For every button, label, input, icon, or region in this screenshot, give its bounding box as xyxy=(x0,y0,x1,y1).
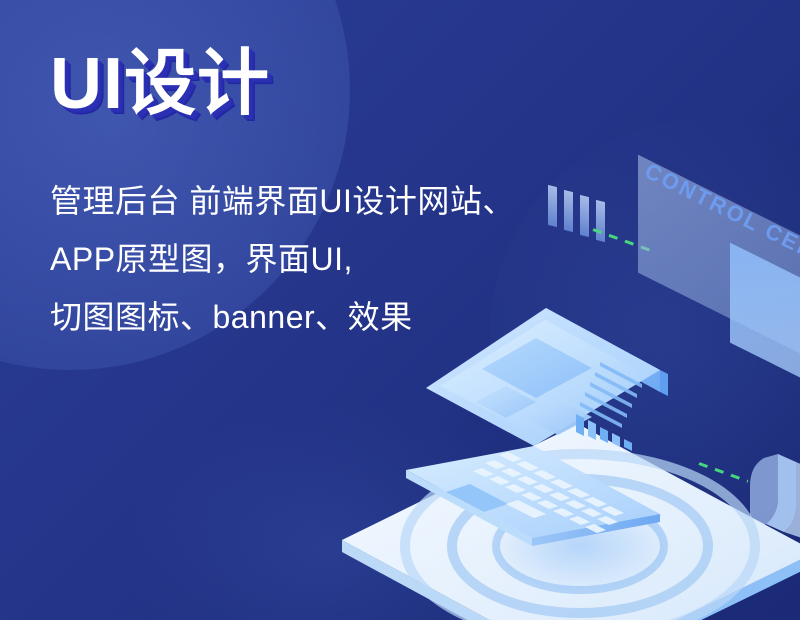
subtitle-line-2: APP原型图，界面UI, xyxy=(50,230,630,288)
page-title: UI设计 xyxy=(50,40,270,128)
decorative-bar xyxy=(596,200,605,242)
decorative-bar xyxy=(564,190,573,232)
ui-design-banner: UI设计 管理后台 前端界面UI设计网站、 APP原型图，界面UI, 切图图标、… xyxy=(0,0,800,620)
laptop-illustration xyxy=(396,300,686,550)
decorative-bar xyxy=(580,195,589,237)
decorative-bar xyxy=(548,185,557,227)
subtitle-line-1: 管理后台 前端界面UI设计网站、 xyxy=(50,172,630,230)
decorative-bars xyxy=(548,186,618,238)
